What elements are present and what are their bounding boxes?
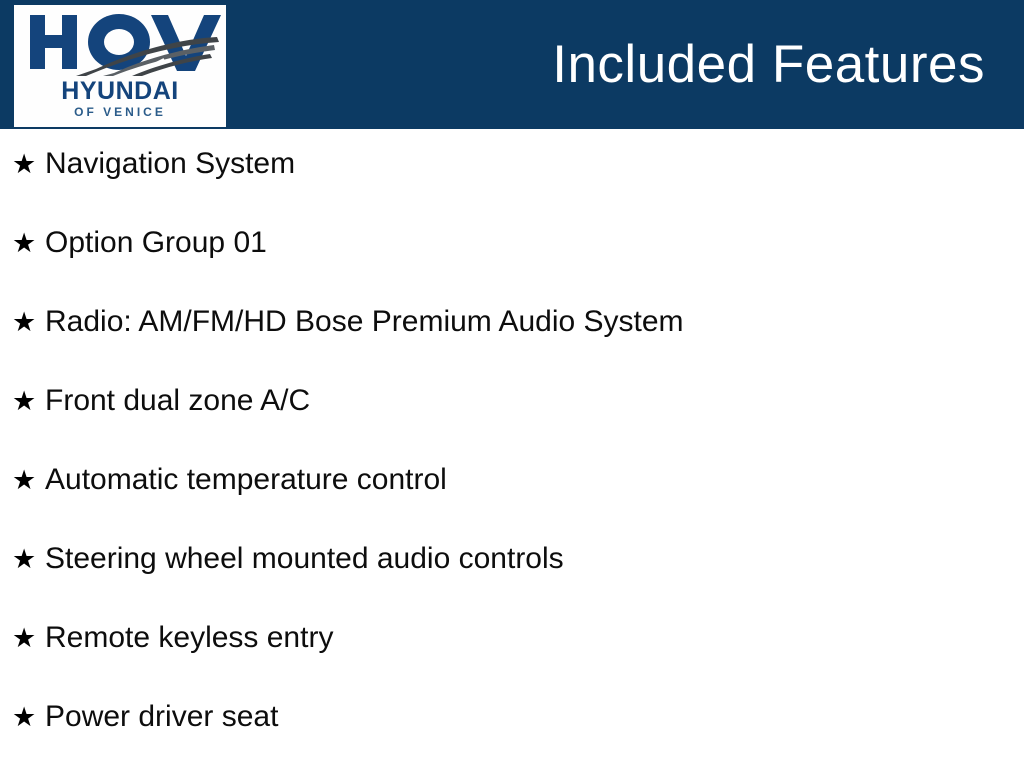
star-bullet-icon: ★ <box>12 151 45 178</box>
list-item: ★ Navigation System <box>0 149 1024 228</box>
logo-brand-line: HYUNDAI <box>14 79 226 104</box>
list-item: ★ Front dual zone A/C <box>0 386 1024 465</box>
feature-label: Option Group 01 <box>45 228 267 258</box>
logo-sub-line: OF VENICE <box>14 106 226 118</box>
star-bullet-icon: ★ <box>12 625 45 652</box>
feature-label: Power driver seat <box>45 702 278 732</box>
feature-label: Front dual zone A/C <box>45 386 310 416</box>
hov-lettermark-icon <box>14 9 226 79</box>
star-bullet-icon: ★ <box>12 230 45 257</box>
list-item: ★ Remote keyless entry <box>0 623 1024 702</box>
star-bullet-icon: ★ <box>12 546 45 573</box>
feature-label: Radio: AM/FM/HD Bose Premium Audio Syste… <box>45 307 684 337</box>
included-features-list: ★ Navigation System ★ Option Group 01 ★ … <box>0 129 1024 768</box>
star-bullet-icon: ★ <box>12 388 45 415</box>
logo-inner: HYUNDAI OF VENICE <box>14 5 226 127</box>
page-title: Included Features <box>552 38 1024 91</box>
star-bullet-icon: ★ <box>12 309 45 336</box>
list-item: ★ Steering wheel mounted audio controls <box>0 544 1024 623</box>
slide-included-features: Included Features HYUNDAI OF VE <box>0 0 1024 768</box>
feature-label: Automatic temperature control <box>45 465 447 495</box>
dealer-logo-plate: HYUNDAI OF VENICE <box>14 5 226 127</box>
feature-label: Navigation System <box>45 149 295 179</box>
list-item: ★ Power driver seat <box>0 702 1024 781</box>
star-bullet-icon: ★ <box>12 704 45 731</box>
feature-label: Steering wheel mounted audio controls <box>45 544 564 574</box>
list-item: ★ Automatic temperature control <box>0 465 1024 544</box>
list-item: ★ Radio: AM/FM/HD Bose Premium Audio Sys… <box>0 307 1024 386</box>
feature-label: Remote keyless entry <box>45 623 333 653</box>
star-bullet-icon: ★ <box>12 467 45 494</box>
list-item: ★ Option Group 01 <box>0 228 1024 307</box>
